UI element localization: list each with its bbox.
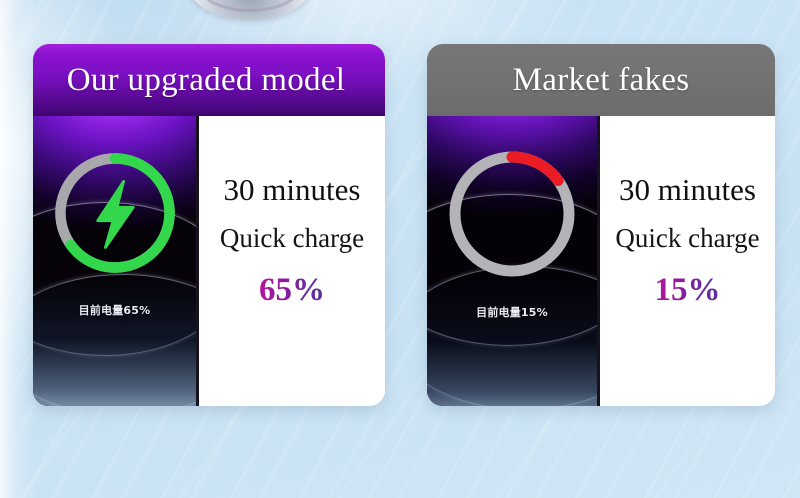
card-header-market-fakes: Market fakes [427, 44, 775, 116]
card-title: Market fakes [513, 64, 690, 97]
phone-screenshot-fake: 目前电量15% [427, 116, 600, 406]
battery-status-label: 目前电量15% [427, 304, 597, 320]
charge-duration-text: 30 minutes [619, 174, 756, 207]
phone-wallpaper-bottom-glow [427, 278, 597, 406]
battery-ring-svg [442, 144, 582, 284]
background-left-glow [0, 0, 36, 498]
battery-status-label: 目前电量65% [33, 302, 196, 318]
battery-ring-gauge-upgraded [48, 146, 182, 280]
charge-percent-value: 65% [259, 272, 325, 309]
lightning-bolt-icon [97, 181, 132, 247]
card-title: Our upgraded model [67, 64, 352, 97]
charge-percent-value: 15% [655, 272, 721, 309]
phone-screenshot-upgraded: 目前电量65% [33, 116, 199, 406]
card-body: 目前电量15% 30 minutes Quick charge 15% [427, 116, 775, 406]
battery-ring-gauge-fake [442, 144, 582, 284]
comparison-card-upgraded-model[interactable]: Our upgraded model 目前电量65% 30 minutes Q [33, 44, 385, 406]
charge-mode-text: Quick charge [220, 224, 364, 252]
comparison-card-market-fakes[interactable]: Market fakes 目前电量15% 30 minutes Quick ch… [427, 44, 775, 406]
battery-ring-svg [48, 146, 182, 280]
card-body: 目前电量65% 30 minutes Quick charge 65% [33, 116, 385, 406]
info-panel-fake: 30 minutes Quick charge 15% [600, 116, 775, 406]
charge-duration-text: 30 minutes [224, 174, 361, 207]
phone-wallpaper-bottom-glow [33, 278, 196, 406]
card-header-upgraded-model: Our upgraded model [33, 44, 385, 116]
info-panel-upgraded: 30 minutes Quick charge 65% [199, 116, 385, 406]
charge-mode-text: Quick charge [615, 224, 759, 252]
